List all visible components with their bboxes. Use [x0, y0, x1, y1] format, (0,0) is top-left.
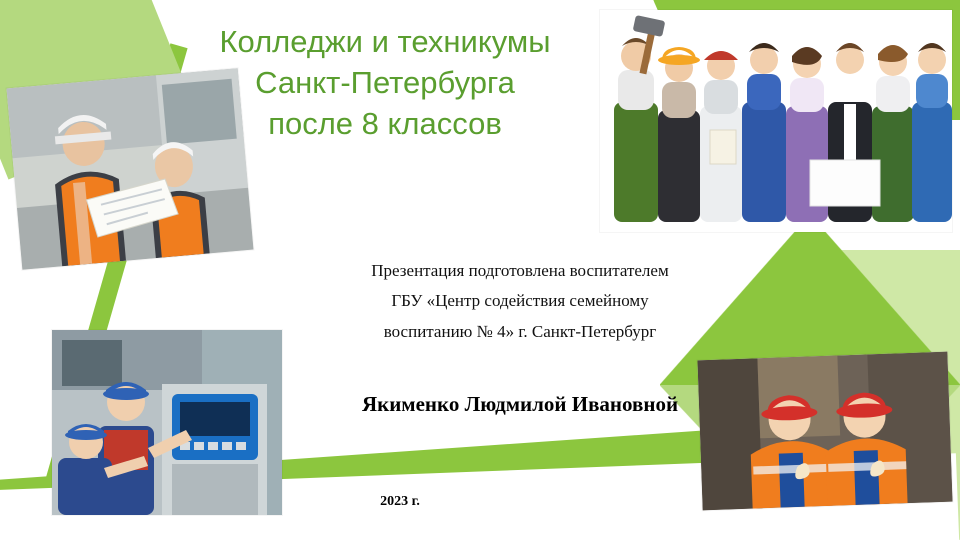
- slide-author: Якименко Людмилой Ивановной: [300, 392, 740, 417]
- slide-subtitle: Презентация подготовлена воспитателем ГБ…: [300, 256, 740, 347]
- photo-students: [600, 10, 952, 232]
- photo-welders: [697, 352, 952, 511]
- slide-year: 2023 г.: [300, 494, 500, 510]
- slide-title: Колледжи и техникумы Санкт-Петербурга по…: [150, 22, 620, 145]
- photo-cnc: [52, 330, 282, 515]
- presentation-slide: Колледжи и техникумы Санкт-Петербурга по…: [0, 0, 960, 540]
